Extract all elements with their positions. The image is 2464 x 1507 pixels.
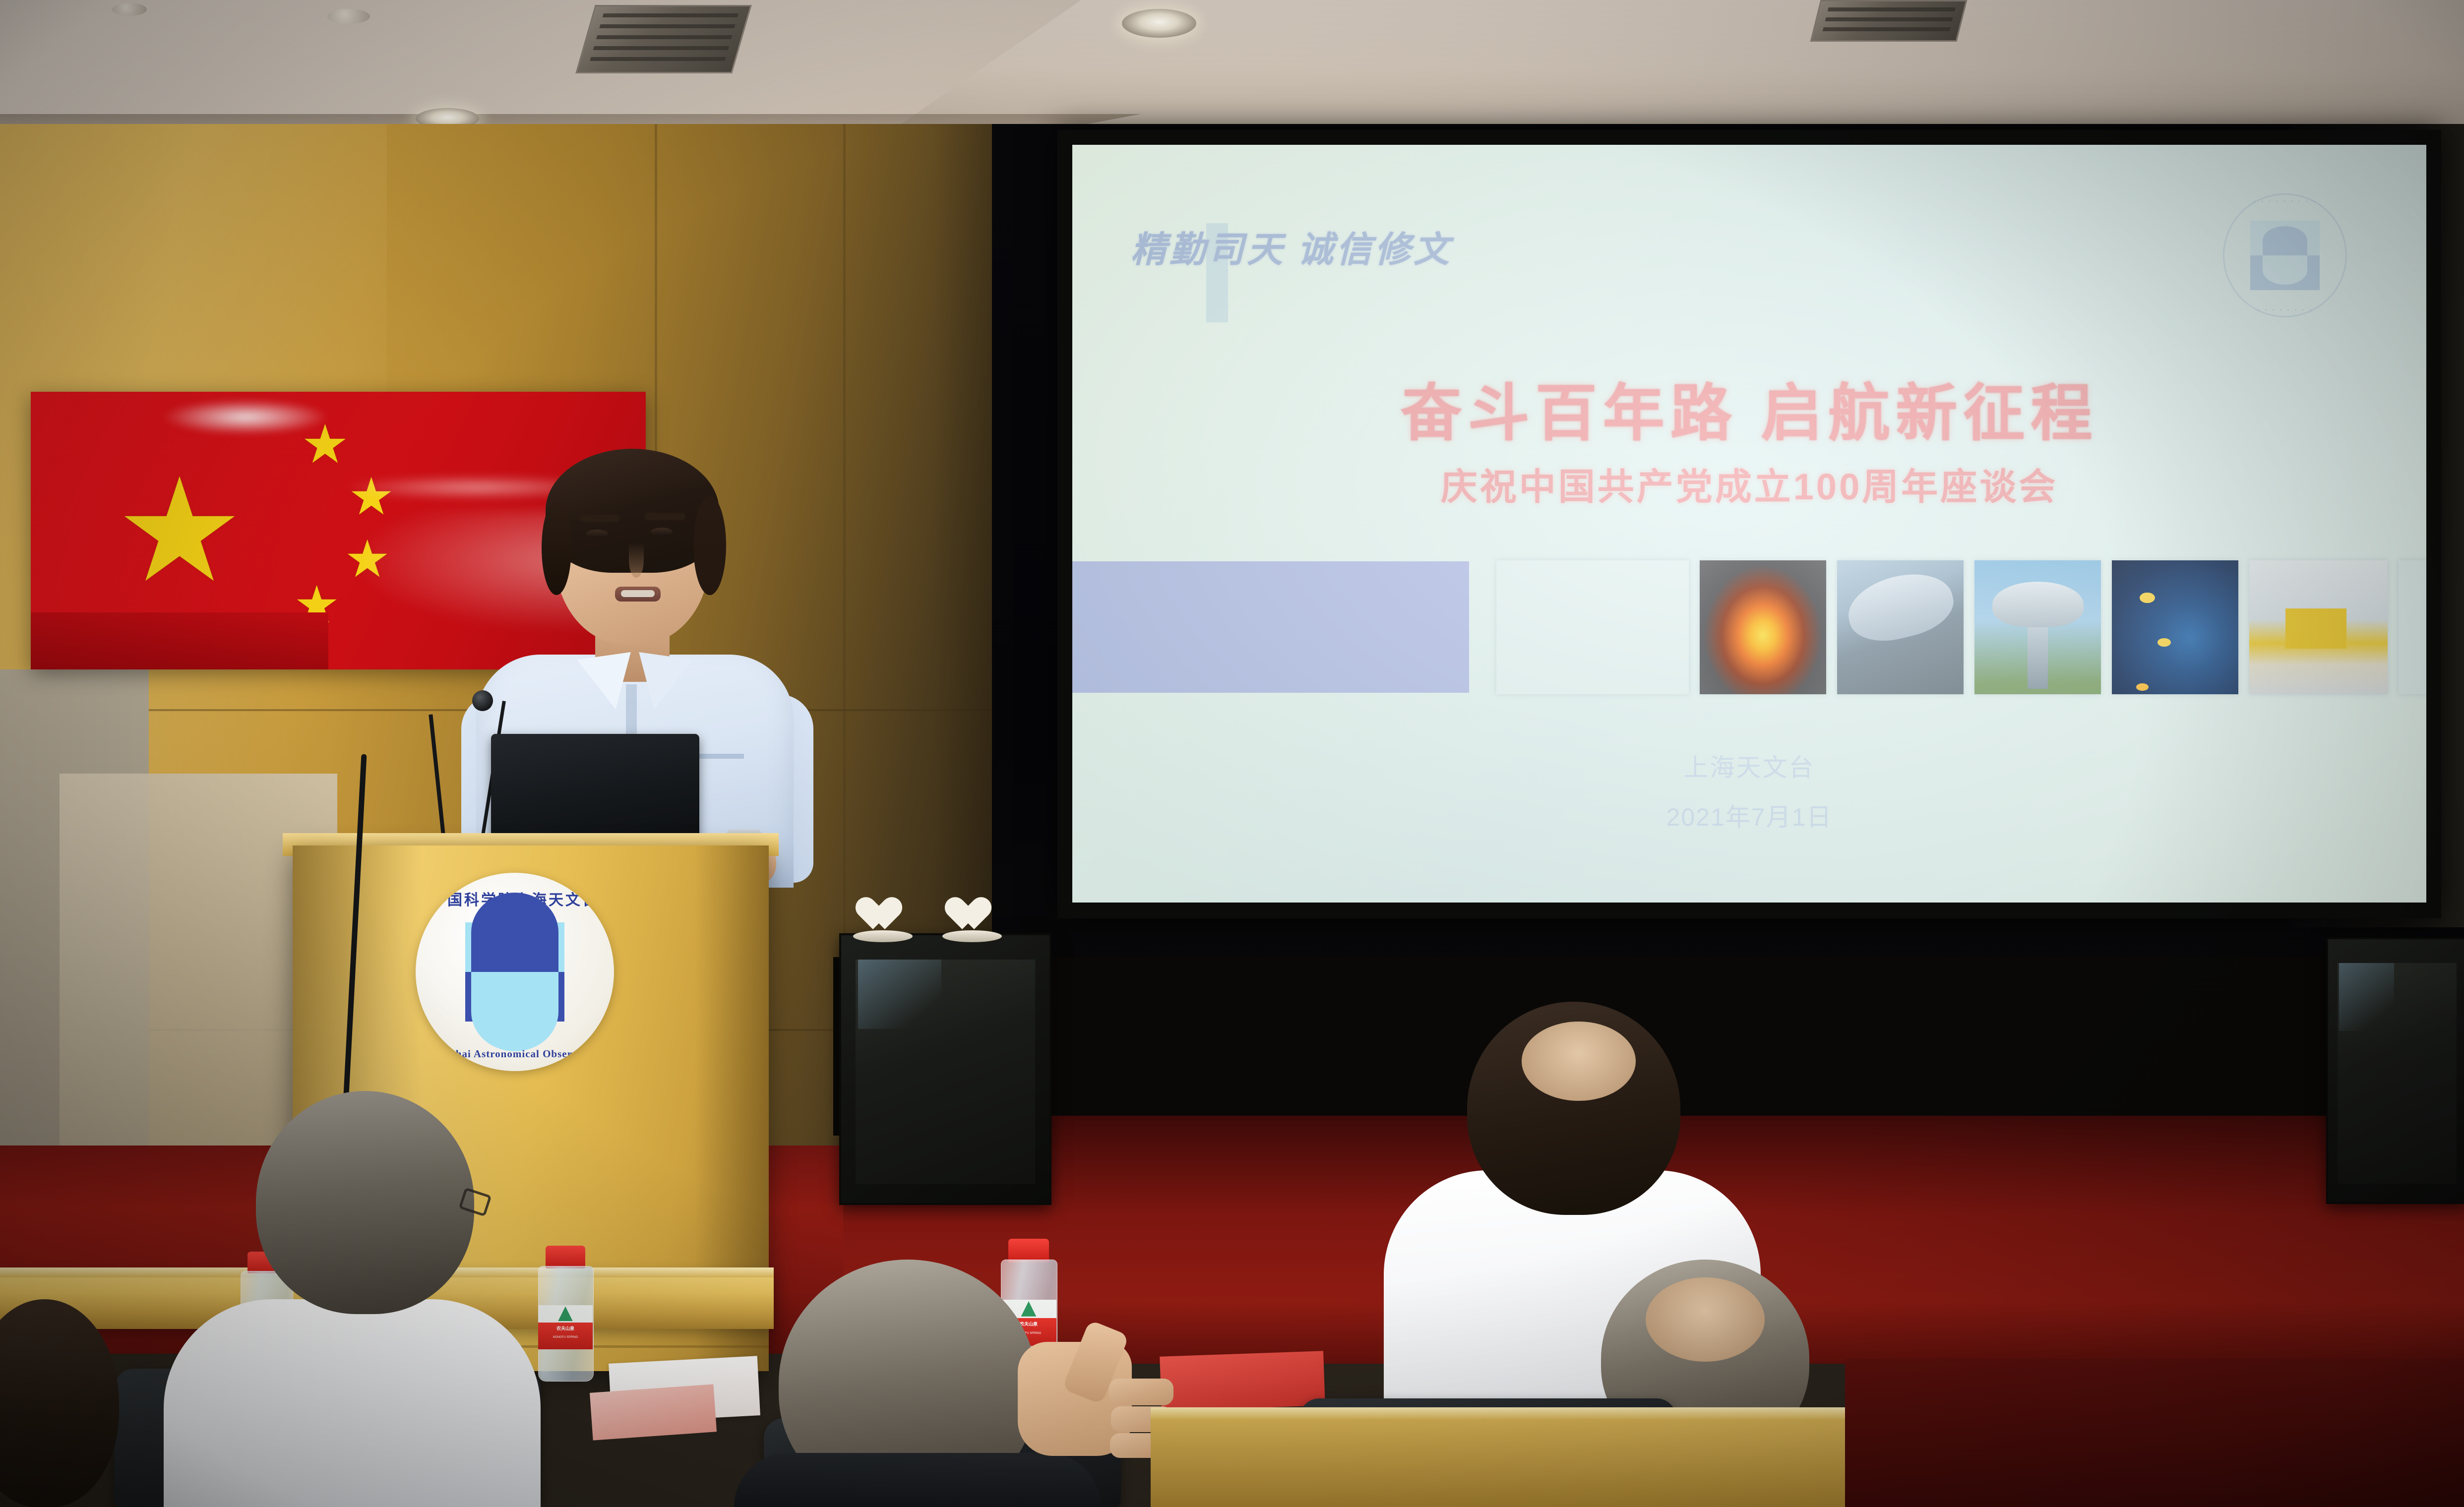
projection-screen[interactable]: 精勤司天 诚信修文 ・・・・・・・・・ ・・・・・・・・ 奋斗百年路 启航新征程…	[1072, 145, 2426, 903]
water-bottle[interactable]: 农夫山泉 NONGFU SPRING	[535, 1246, 596, 1381]
flag-lower-band	[31, 612, 328, 669]
attendee-foreground-body	[734, 1453, 1101, 1507]
bottle-brand-en: NONGFU SPRING	[538, 1336, 592, 1339]
speaker-teeth	[621, 590, 655, 597]
finger	[1109, 1379, 1173, 1405]
smoke-detector-icon	[112, 3, 147, 16]
attendee-center-right-scalp	[1646, 1277, 1765, 1362]
document-paper[interactable]	[590, 1384, 717, 1440]
speaker-hair-side	[693, 496, 726, 595]
podium-emblem-english: Shanghai Astronomical Observatory	[416, 1048, 614, 1060]
air-vent-icon	[575, 5, 752, 73]
conference-room-photo: ★ ★ ★ ★ ★ 精勤司天 诚信修文 ・・・・・・・・・ ・・・・・・・・ 奋…	[0, 0, 2464, 1507]
heart-ornament	[953, 899, 992, 933]
air-vent-icon	[1810, 0, 1968, 42]
speaker-eye	[651, 528, 673, 536]
attendee-front-left-head	[256, 1091, 474, 1314]
ceiling-light-icon	[1122, 9, 1196, 38]
smoke-detector-icon	[327, 9, 370, 24]
red-document[interactable]	[1160, 1351, 1325, 1411]
laptop-screen[interactable]	[491, 734, 699, 848]
podium-emblem-circle-bottom	[471, 972, 558, 1051]
desk-edge	[1151, 1407, 1845, 1419]
attendee-right-rear-scalp	[1522, 1022, 1636, 1101]
screen-vignette	[1072, 145, 2426, 903]
foreground-carpet	[1845, 1359, 2464, 1507]
speaker-hair-side	[542, 501, 571, 595]
speaker-eyebrow	[645, 513, 685, 520]
stage-speaker-right	[2326, 937, 2464, 1204]
audience-desk-front	[1151, 1414, 1845, 1507]
attendee-front-left-body	[164, 1299, 541, 1507]
heart-ornament	[864, 899, 903, 933]
bottle-brand-cn: 农夫山泉	[538, 1325, 592, 1331]
stage-speaker-left	[839, 933, 1051, 1205]
flag-glare	[164, 400, 327, 434]
podium-emblem-circle-top	[471, 893, 558, 972]
speaker-nose	[629, 543, 644, 578]
speaker-eye	[586, 530, 608, 538]
microphone-head-icon	[472, 690, 493, 711]
podium-emblem: 中国科学院上海天文台 Shanghai Astronomical Observa…	[416, 873, 614, 1071]
speaker-eyebrow	[579, 515, 620, 522]
